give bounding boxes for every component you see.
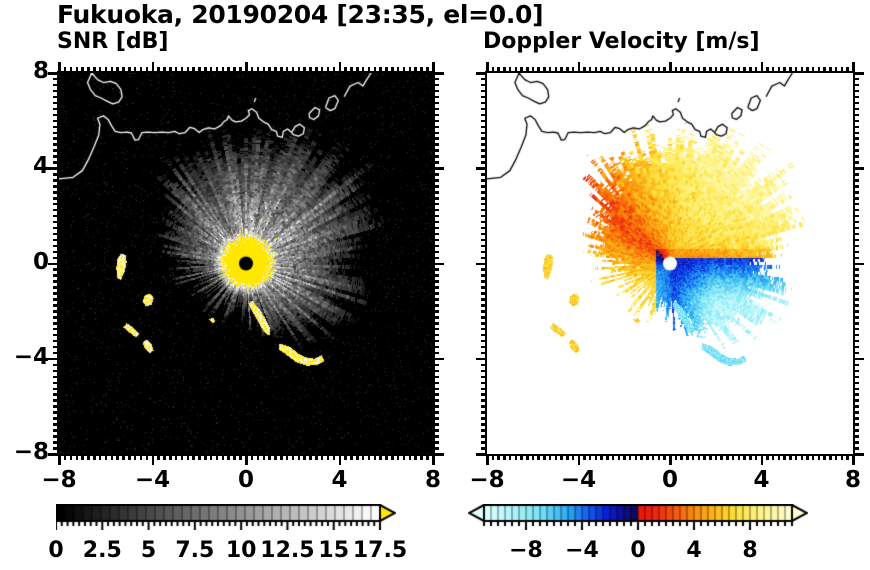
x-tick-top: [595, 67, 598, 73]
y-tick-right: [433, 72, 444, 75]
x-tick-top: [339, 62, 342, 73]
y-tick-right: [433, 316, 439, 319]
y-tick-right: [853, 227, 859, 230]
y-tick-right: [853, 233, 859, 236]
x-tick-top: [298, 67, 301, 73]
x-tick-top: [835, 67, 838, 73]
y-tick-right: [433, 376, 439, 379]
x-tick: [749, 454, 752, 460]
y-tick: [481, 120, 487, 123]
y-tick: [53, 328, 59, 331]
y-tick: [53, 352, 59, 355]
y-tick: [48, 358, 59, 361]
x-tick-top: [292, 67, 295, 73]
y-tick-right: [853, 239, 859, 242]
y-tick: [53, 304, 59, 307]
x-tick-top: [303, 67, 306, 73]
x-tick: [743, 454, 746, 460]
x-axis-label: −4: [123, 467, 183, 493]
x-tick: [692, 454, 695, 460]
x-tick: [432, 454, 435, 465]
y-tick-right: [853, 411, 859, 414]
x-tick-top: [356, 67, 359, 73]
y-tick-right: [433, 423, 439, 426]
y-tick: [53, 203, 59, 206]
y-tick: [481, 90, 487, 93]
y-tick-right: [853, 126, 859, 129]
x-tick-top: [761, 62, 764, 73]
y-tick: [53, 132, 59, 135]
x-tick-top: [806, 67, 809, 73]
y-tick-right: [433, 388, 439, 391]
x-tick: [268, 454, 271, 460]
x-tick-top: [198, 67, 201, 73]
x-tick: [374, 454, 377, 460]
y-tick: [481, 185, 487, 188]
y-tick: [53, 96, 59, 99]
x-tick: [379, 454, 382, 460]
x-tick: [87, 454, 90, 460]
y-tick: [481, 328, 487, 331]
y-tick-right: [433, 161, 439, 164]
y-tick: [53, 280, 59, 283]
snr-colorbar: [56, 504, 396, 530]
x-tick: [140, 454, 143, 460]
x-tick-top: [560, 67, 563, 73]
x-tick: [216, 454, 219, 460]
left-panel-title: SNR [dB]: [57, 29, 168, 54]
y-tick-right: [853, 161, 859, 164]
x-tick-top: [403, 67, 406, 73]
x-axis-label: 4: [732, 467, 792, 493]
y-tick: [53, 102, 59, 105]
y-tick: [53, 114, 59, 117]
y-tick: [53, 90, 59, 93]
x-tick: [233, 454, 236, 460]
y-tick: [476, 263, 487, 266]
x-tick-top: [606, 67, 609, 73]
x-tick: [675, 454, 678, 460]
y-tick-right: [853, 364, 859, 367]
y-tick: [481, 209, 487, 212]
x-tick-top: [492, 67, 495, 73]
y-tick: [53, 286, 59, 289]
x-tick-top: [309, 67, 312, 73]
x-tick-top: [222, 67, 225, 73]
y-tick-right: [433, 340, 439, 343]
y-tick-right: [433, 149, 439, 152]
y-tick-right: [433, 280, 439, 283]
x-tick-top: [726, 67, 729, 73]
snr-colorbar-canvas: [56, 504, 396, 530]
y-tick: [481, 203, 487, 206]
y-tick-right: [853, 298, 859, 301]
y-tick-right: [853, 274, 859, 277]
x-tick: [509, 454, 512, 460]
y-tick-right: [853, 292, 859, 295]
x-tick: [835, 454, 838, 460]
x-tick: [426, 454, 429, 460]
snr-plot-panel: [57, 71, 435, 456]
x-tick-top: [286, 67, 289, 73]
y-tick: [481, 352, 487, 355]
y-tick-right: [433, 346, 439, 349]
y-tick: [481, 257, 487, 260]
x-tick-top: [497, 67, 500, 73]
x-tick: [385, 454, 388, 460]
x-tick-top: [210, 67, 213, 73]
x-tick-top: [675, 67, 678, 73]
x-tick-top: [503, 67, 506, 73]
y-tick-right: [853, 393, 859, 396]
y-tick-right: [853, 78, 859, 81]
x-tick-top: [715, 67, 718, 73]
y-tick-right: [433, 185, 439, 188]
x-tick: [397, 454, 400, 460]
x-tick-top: [111, 67, 114, 73]
y-tick: [53, 322, 59, 325]
x-tick: [356, 454, 359, 460]
x-tick: [818, 454, 821, 460]
y-axis-label: −4: [9, 344, 49, 370]
x-tick: [339, 454, 342, 465]
y-tick: [481, 435, 487, 438]
y-tick: [53, 376, 59, 379]
x-tick: [128, 454, 131, 460]
x-tick-top: [128, 67, 131, 73]
x-tick: [543, 454, 546, 460]
x-tick: [286, 454, 289, 460]
x-tick-top: [543, 67, 546, 73]
x-tick: [618, 454, 621, 460]
y-tick: [53, 382, 59, 385]
x-tick: [595, 454, 598, 460]
x-tick: [852, 454, 855, 465]
y-tick: [481, 78, 487, 81]
y-tick: [53, 346, 59, 349]
y-tick: [53, 447, 59, 450]
x-tick: [766, 454, 769, 460]
x-tick: [333, 454, 336, 460]
y-tick: [53, 126, 59, 129]
x-tick: [646, 454, 649, 460]
y-tick-right: [433, 197, 439, 200]
x-tick-top: [374, 67, 377, 73]
x-tick-top: [385, 67, 388, 73]
x-tick: [157, 454, 160, 460]
x-tick-top: [70, 67, 73, 73]
x-tick-top: [566, 67, 569, 73]
y-tick: [481, 268, 487, 271]
y-tick-right: [433, 132, 439, 135]
y-tick-right: [853, 90, 859, 93]
y-tick: [481, 393, 487, 396]
y-tick-right: [853, 221, 859, 224]
x-tick: [344, 454, 347, 460]
x-tick-top: [623, 67, 626, 73]
x-tick: [263, 454, 266, 460]
x-tick-top: [732, 67, 735, 73]
y-tick-right: [433, 292, 439, 295]
y-tick-right: [433, 114, 439, 117]
y-tick-right: [433, 215, 439, 218]
y-tick-right: [853, 96, 859, 99]
y-tick-right: [433, 78, 439, 81]
y-tick: [53, 298, 59, 301]
x-tick-top: [280, 67, 283, 73]
x-tick: [486, 454, 489, 465]
x-tick-top: [64, 67, 67, 73]
y-tick-right: [853, 179, 859, 182]
y-tick: [481, 364, 487, 367]
x-tick: [789, 454, 792, 460]
y-tick-right: [433, 405, 439, 408]
x-axis-label: 8: [823, 467, 870, 493]
y-tick-right: [853, 417, 859, 420]
y-tick-right: [433, 370, 439, 373]
x-tick: [58, 454, 61, 465]
y-tick: [53, 399, 59, 402]
x-tick: [227, 454, 230, 460]
right-panel-title: Doppler Velocity [m/s]: [483, 29, 760, 54]
snr-radar-canvas: [59, 73, 433, 454]
x-tick: [362, 454, 365, 460]
x-tick-top: [698, 67, 701, 73]
x-tick-top: [204, 67, 207, 73]
y-tick-right: [433, 268, 439, 271]
x-tick-top: [192, 67, 195, 73]
y-tick: [481, 376, 487, 379]
y-tick-right: [853, 245, 859, 248]
y-tick: [481, 179, 487, 182]
x-tick: [315, 454, 318, 460]
x-tick-top: [140, 67, 143, 73]
y-tick: [481, 405, 487, 408]
x-tick: [210, 454, 213, 460]
y-tick: [481, 423, 487, 426]
y-tick: [481, 227, 487, 230]
x-tick: [738, 454, 741, 460]
y-tick: [53, 215, 59, 218]
y-tick: [481, 221, 487, 224]
y-tick-right: [433, 191, 439, 194]
x-tick: [134, 454, 137, 460]
y-tick-right: [853, 102, 859, 105]
y-tick: [481, 102, 487, 105]
doppler-colorbar-canvas: [468, 504, 808, 530]
y-tick: [481, 316, 487, 319]
x-tick: [606, 454, 609, 460]
x-tick-top: [749, 67, 752, 73]
x-tick-top: [116, 67, 119, 73]
y-tick: [481, 441, 487, 444]
x-tick: [292, 454, 295, 460]
y-tick: [481, 251, 487, 254]
y-tick: [476, 72, 487, 75]
y-tick: [481, 108, 487, 111]
doppler-radar-canvas: [487, 73, 853, 454]
y-tick-right: [853, 185, 859, 188]
y-tick-right: [433, 435, 439, 438]
y-tick-right: [433, 364, 439, 367]
x-tick: [589, 454, 592, 460]
x-tick: [623, 454, 626, 460]
y-tick-right: [433, 227, 439, 230]
x-tick-top: [818, 67, 821, 73]
y-tick: [53, 423, 59, 426]
y-tick-right: [433, 453, 444, 456]
y-tick: [53, 179, 59, 182]
y-tick-right: [853, 346, 859, 349]
x-axis-label: −4: [549, 467, 609, 493]
y-tick: [481, 191, 487, 194]
y-tick: [53, 143, 59, 146]
y-tick: [53, 274, 59, 277]
x-tick: [652, 454, 655, 460]
y-tick: [481, 96, 487, 99]
x-tick-top: [801, 67, 804, 73]
y-tick: [481, 149, 487, 152]
x-tick-top: [772, 67, 775, 73]
x-tick: [93, 454, 96, 460]
x-tick-top: [93, 67, 96, 73]
y-tick-right: [433, 120, 439, 123]
y-tick-right: [853, 429, 859, 432]
y-tick: [53, 227, 59, 230]
y-tick-right: [433, 84, 439, 87]
x-tick: [566, 454, 569, 460]
x-tick: [806, 454, 809, 460]
x-tick: [409, 454, 412, 460]
x-tick-top: [76, 67, 79, 73]
x-tick-top: [333, 67, 336, 73]
x-tick-top: [81, 67, 84, 73]
x-tick-top: [157, 67, 160, 73]
y-tick-right: [433, 429, 439, 432]
x-tick-top: [379, 67, 382, 73]
y-tick-right: [853, 316, 859, 319]
y-tick-right: [433, 382, 439, 385]
x-tick-top: [635, 67, 638, 73]
x-tick: [663, 454, 666, 460]
x-tick: [146, 454, 149, 460]
x-tick: [303, 454, 306, 460]
x-tick: [222, 454, 225, 460]
y-tick: [481, 447, 487, 450]
y-tick: [481, 161, 487, 164]
x-tick: [76, 454, 79, 460]
y-tick: [481, 322, 487, 325]
x-axis-label: 0: [640, 467, 700, 493]
y-tick-right: [853, 388, 859, 391]
y-tick: [476, 358, 487, 361]
x-tick: [163, 454, 166, 460]
x-tick-top: [420, 67, 423, 73]
x-axis-label: 0: [216, 467, 276, 493]
y-tick: [481, 399, 487, 402]
y-tick: [481, 143, 487, 146]
x-tick-top: [572, 67, 575, 73]
x-tick: [709, 454, 712, 460]
x-tick-top: [181, 67, 184, 73]
y-tick: [53, 268, 59, 271]
y-tick-right: [853, 167, 864, 170]
y-tick: [481, 239, 487, 242]
x-axis-label: 8: [403, 467, 463, 493]
x-tick: [187, 454, 190, 460]
y-tick-right: [853, 322, 859, 325]
x-tick: [635, 454, 638, 460]
x-axis-label: −8: [29, 467, 89, 493]
y-tick-right: [853, 132, 859, 135]
x-tick: [841, 454, 844, 460]
y-tick-right: [433, 358, 444, 361]
y-tick-right: [433, 221, 439, 224]
y-tick: [53, 197, 59, 200]
y-tick: [53, 411, 59, 414]
x-tick-top: [680, 67, 683, 73]
x-tick-top: [795, 67, 798, 73]
y-tick: [481, 429, 487, 432]
y-tick: [53, 435, 59, 438]
x-tick-top: [829, 67, 832, 73]
x-tick-top: [812, 67, 815, 73]
x-tick-top: [640, 67, 643, 73]
y-tick-right: [853, 137, 859, 140]
x-tick-top: [520, 67, 523, 73]
y-axis-label: 0: [9, 249, 49, 275]
y-tick-right: [853, 370, 859, 373]
y-tick: [481, 114, 487, 117]
x-tick-top: [589, 67, 592, 73]
x-tick: [578, 454, 581, 465]
x-tick: [823, 454, 826, 460]
y-tick: [53, 405, 59, 408]
x-tick: [715, 454, 718, 460]
y-tick-right: [433, 143, 439, 146]
y-tick-right: [853, 197, 859, 200]
x-tick-top: [846, 67, 849, 73]
y-tick-right: [433, 203, 439, 206]
x-tick: [555, 454, 558, 460]
y-tick-right: [853, 108, 859, 111]
x-tick: [732, 454, 735, 460]
x-tick: [251, 454, 254, 460]
y-tick: [481, 84, 487, 87]
x-tick-top: [629, 67, 632, 73]
x-tick-top: [703, 67, 706, 73]
y-tick: [53, 257, 59, 260]
x-tick-top: [841, 67, 844, 73]
y-tick: [53, 84, 59, 87]
x-tick: [414, 454, 417, 460]
x-tick-top: [99, 67, 102, 73]
x-tick: [492, 454, 495, 460]
x-tick-top: [686, 67, 689, 73]
x-tick: [175, 454, 178, 460]
x-tick-top: [755, 67, 758, 73]
x-tick: [720, 454, 723, 460]
y-tick-right: [853, 441, 859, 444]
y-tick-right: [853, 280, 859, 283]
x-tick: [640, 454, 643, 460]
y-tick-right: [433, 399, 439, 402]
y-tick-right: [853, 191, 859, 194]
x-tick-top: [397, 67, 400, 73]
y-tick-right: [853, 382, 859, 385]
x-tick-top: [600, 67, 603, 73]
y-tick-right: [853, 358, 864, 361]
